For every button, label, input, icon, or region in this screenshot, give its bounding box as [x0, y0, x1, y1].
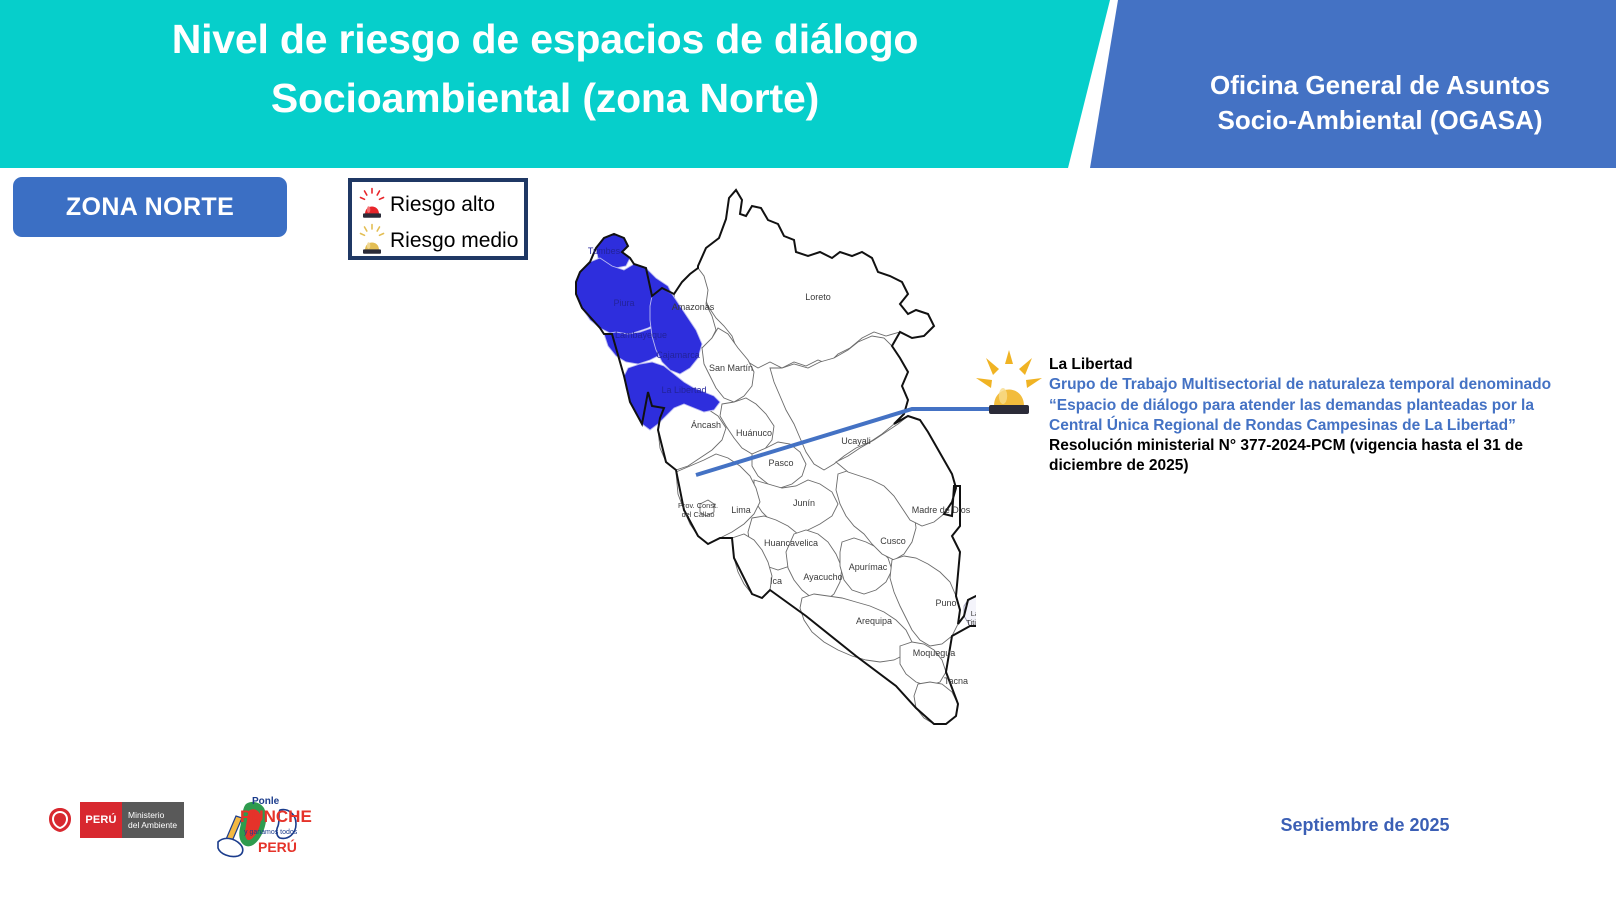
map-label: La Libertad	[661, 385, 706, 395]
callout-description: Grupo de Trabajo Multisectorial de natur…	[1049, 375, 1565, 436]
logo-peru-label: PERÚ	[80, 802, 122, 838]
callout-resolution: Resolución ministerial N° 377-2024-PCM (…	[1049, 436, 1565, 477]
header-banner: Nivel de riesgo de espacios de diálogo S…	[0, 0, 1616, 172]
map-label: Áncash	[691, 420, 721, 430]
peru-map[interactable]: TumbesPiuraLambayequeCajamarcaLa Liberta…	[556, 186, 976, 806]
legend-item-riesgo-alto: Riesgo alto	[357, 186, 521, 222]
punche-line4: PERÚ	[258, 838, 297, 855]
peru-map-svg: TumbesPiuraLambayequeCajamarcaLa Liberta…	[556, 186, 976, 806]
footer-date: Septiembre de 2025	[1200, 815, 1530, 836]
map-label: Ayacucho	[803, 572, 842, 582]
siren-red-icon	[357, 187, 387, 221]
page-title: Nivel de riesgo de espacios de diálogo S…	[40, 10, 1050, 128]
map-label: Junín	[793, 498, 815, 508]
legend-label: Riesgo medio	[390, 230, 518, 251]
map-label: Huancavelica	[764, 538, 818, 548]
map-label: Loreto	[805, 292, 831, 302]
map-label: Cajamarca	[656, 350, 700, 360]
map-label: San Martín	[709, 363, 753, 373]
map-label: Puno	[935, 598, 956, 608]
siren-yellow-icon	[972, 348, 1046, 416]
map-label: Lima	[731, 505, 751, 515]
map-label: Cusco	[880, 536, 906, 546]
zone-norte-button[interactable]: ZONA NORTE	[13, 177, 287, 237]
logo-ministry-label: Ministerio del Ambiente	[122, 802, 184, 838]
legend-label: Riesgo alto	[390, 194, 495, 215]
siren-yellow-icon	[357, 223, 387, 257]
map-departments-plain	[658, 190, 976, 724]
map-label: Tacna	[944, 676, 968, 686]
map-label: Huánuco	[736, 428, 772, 438]
dept-lima[interactable]	[676, 454, 760, 544]
map-label: Ucayali	[841, 436, 871, 446]
map-label: Tumbes	[588, 246, 621, 256]
punche-line1: Ponle	[252, 796, 280, 807]
map-label: Madre de Dios	[912, 505, 971, 515]
logo-minam: PERÚ Ministerio del Ambiente	[40, 802, 184, 838]
map-label: Amazonas	[672, 302, 715, 312]
callout-department: La Libertad	[1049, 355, 1565, 375]
punche-line3: y ganamos todos	[244, 829, 298, 836]
peru-coat-of-arms-icon	[40, 802, 80, 838]
office-name: Oficina General de Asuntos Socio-Ambient…	[1150, 68, 1610, 137]
logo-ponle-punche-peru: Ponle PUNCHE y ganamos todos PERÚ	[206, 790, 318, 862]
dept-arequipa[interactable]	[800, 594, 912, 662]
legend-item-riesgo-medio: Riesgo medio	[357, 222, 521, 258]
map-label: Moquegua	[913, 648, 956, 658]
risk-legend: Riesgo alto Riesgo medio	[348, 178, 528, 260]
map-label: Prov. Const.del Callao	[678, 501, 718, 519]
dept-huanuco[interactable]	[720, 398, 774, 454]
map-label: Pasco	[768, 458, 793, 468]
map-label: Lambayeque	[615, 330, 667, 340]
map-label: Piura	[613, 298, 634, 308]
map-label: Apurímac	[849, 562, 888, 572]
map-label: Ica	[770, 576, 782, 586]
map-label: Arequipa	[856, 616, 892, 626]
callout-text-block: La Libertad Grupo de Trabajo Multisector…	[1049, 355, 1565, 477]
punche-line2: PUNCHE	[240, 807, 312, 826]
